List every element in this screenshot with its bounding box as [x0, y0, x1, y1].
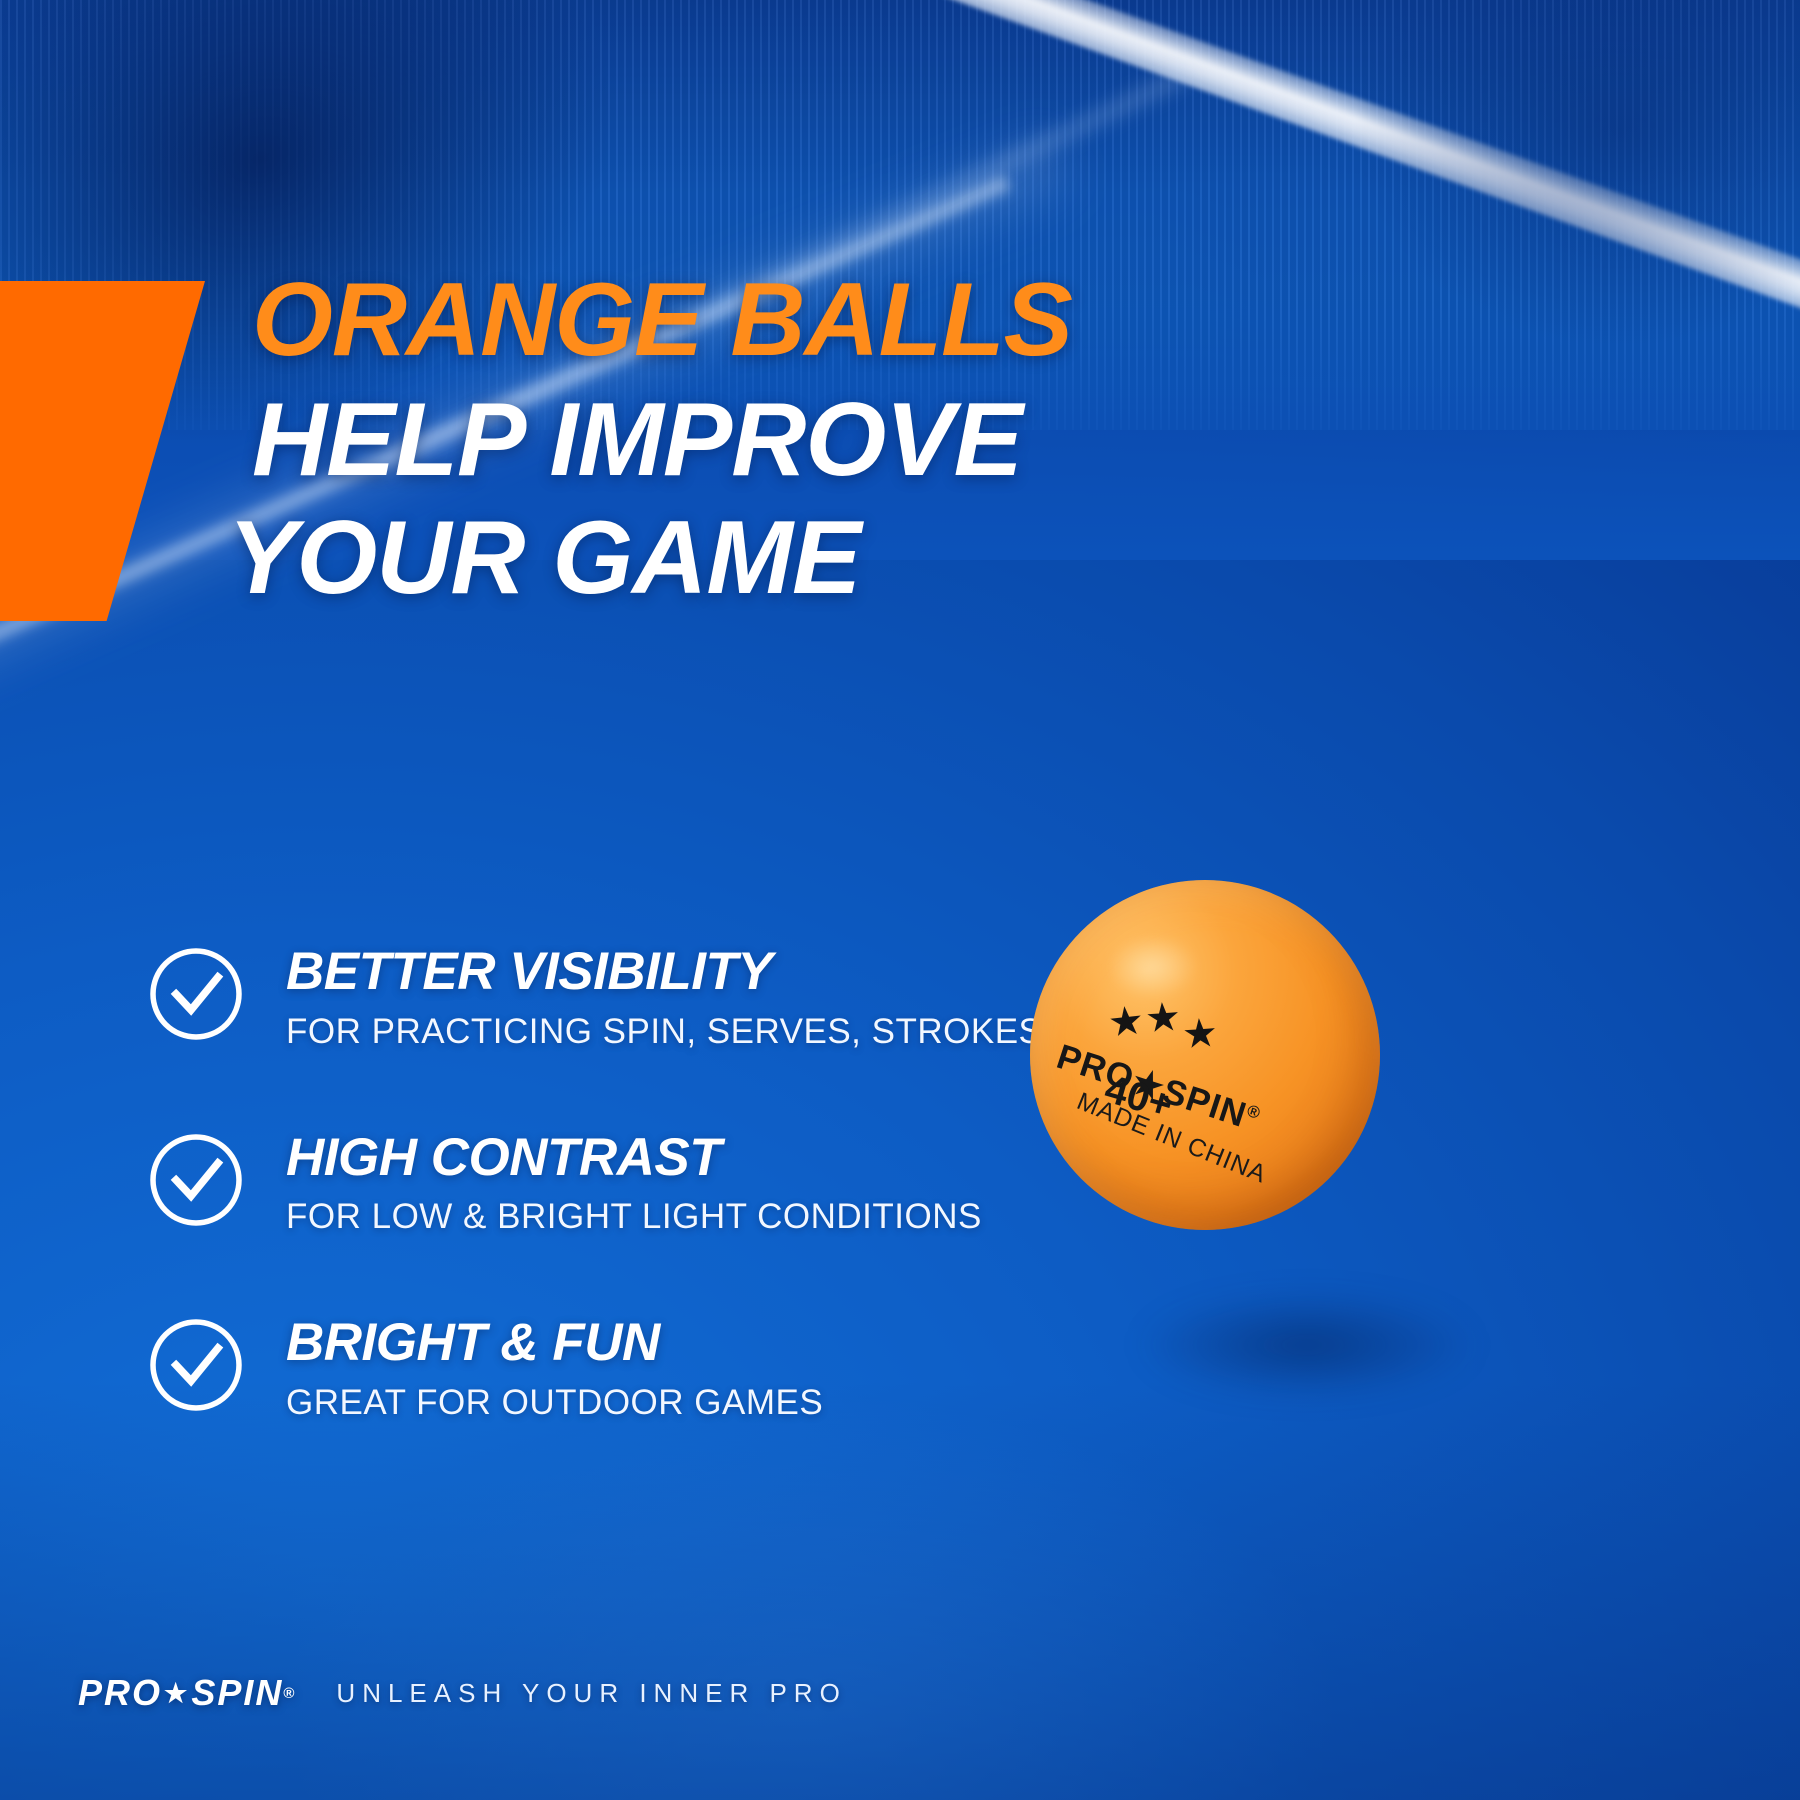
ball-printing: ★ ★ ★ PRO★SPIN® 40+ MADE IN CHINA	[1030, 880, 1380, 1230]
ball-star-icon: ★	[1144, 997, 1183, 1039]
feature-item: HIGH CONTRAST FOR LOW & BRIGHT LIGHT CON…	[148, 1126, 1148, 1238]
ball-star-rating: ★ ★ ★	[1108, 998, 1258, 1052]
headline-block: ORANGE BALLS HELP IMPROVE YOUR GAME	[252, 268, 1652, 610]
prospin-logo: PRO ★ SPIN ®	[78, 1672, 296, 1714]
feature-item: BRIGHT & FUN GREAT FOR OUTDOOR GAMES	[148, 1311, 1148, 1423]
ball-shadow	[1072, 1270, 1542, 1420]
headline-line-3: YOUR GAME	[228, 506, 1652, 610]
feature-subtitle: GREAT FOR OUTDOOR GAMES	[286, 1383, 823, 1423]
footer-bar: PRO ★ SPIN ® UNLEASH YOUR INNER PRO	[78, 1672, 847, 1714]
feature-subtitle: FOR PRACTICING SPIN, SERVES, STROKES	[286, 1012, 1042, 1052]
feature-text: BETTER VISIBILITY FOR PRACTICING SPIN, S…	[286, 940, 1042, 1052]
check-circle-icon	[148, 946, 244, 1042]
logo-text-spin: SPIN	[191, 1672, 283, 1714]
feature-subtitle: FOR LOW & BRIGHT LIGHT CONDITIONS	[286, 1197, 982, 1237]
check-circle-icon	[148, 1132, 244, 1228]
feature-title: BRIGHT & FUN	[286, 1315, 823, 1371]
headline-line-2: HELP IMPROVE	[252, 388, 1652, 492]
logo-star-icon: ★	[164, 1678, 189, 1709]
feature-text: BRIGHT & FUN GREAT FOR OUTDOOR GAMES	[286, 1311, 823, 1423]
ball-star-icon: ★	[1106, 1000, 1146, 1044]
logo-text-pro: PRO	[78, 1672, 162, 1714]
feature-list: BETTER VISIBILITY FOR PRACTICING SPIN, S…	[148, 940, 1148, 1497]
headline-line-1: ORANGE BALLS	[252, 268, 1652, 372]
brand-tagline: UNLEASH YOUR INNER PRO	[336, 1678, 846, 1709]
feature-title: HIGH CONTRAST	[286, 1130, 982, 1186]
poster-canvas: ORANGE BALLS HELP IMPROVE YOUR GAME BETT…	[0, 0, 1800, 1800]
product-ball: ★ ★ ★ PRO★SPIN® 40+ MADE IN CHINA	[1010, 870, 1630, 1490]
feature-text: HIGH CONTRAST FOR LOW & BRIGHT LIGHT CON…	[286, 1126, 982, 1238]
check-circle-icon	[148, 1317, 244, 1413]
logo-registered-mark: ®	[283, 1685, 296, 1702]
ball-star-icon: ★	[1181, 1013, 1220, 1055]
feature-item: BETTER VISIBILITY FOR PRACTICING SPIN, S…	[148, 940, 1148, 1052]
feature-title: BETTER VISIBILITY	[286, 944, 1042, 1000]
